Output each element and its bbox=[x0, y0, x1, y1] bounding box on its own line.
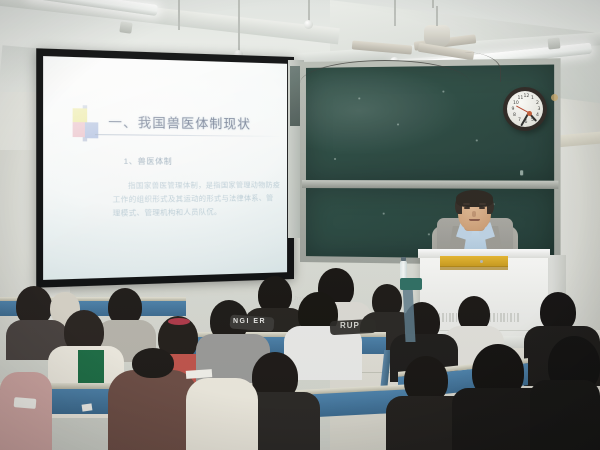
student-body-front-7 bbox=[530, 380, 600, 450]
clock-number-3: 3 bbox=[538, 107, 541, 112]
slide-subtitle: 1、兽医体制 bbox=[124, 155, 173, 167]
student-body-front-4 bbox=[186, 378, 258, 450]
clock-number-11: 11 bbox=[518, 96, 524, 101]
paper-on-desk-3 bbox=[82, 403, 93, 411]
stand-book bbox=[400, 278, 422, 290]
hanger-rod-4 bbox=[394, 0, 396, 26]
projection-screen: 一、我国兽医体制现状 1、兽医体制 指国家兽医管理体制，是指国家管理动物防疫工作… bbox=[36, 48, 294, 287]
clock-number-12: 12 bbox=[524, 94, 530, 99]
presentation-slide: 一、我国兽医体制现状 1、兽医体制 指国家兽医管理体制，是指国家管理动物防疫工作… bbox=[43, 56, 287, 280]
wall-hook bbox=[551, 94, 558, 101]
hanger-rod-2 bbox=[238, 0, 240, 52]
fan-rod-1 bbox=[436, 6, 438, 26]
tube-mount-1 bbox=[119, 21, 132, 34]
speaker-eye-right bbox=[479, 207, 485, 209]
paper-on-desk-2 bbox=[14, 397, 37, 409]
jacket-text-grey: NGI ER bbox=[233, 318, 266, 325]
slide-title: 一、我国兽医体制现状 bbox=[108, 111, 251, 133]
clock-center-pin bbox=[527, 111, 532, 116]
clock-number-7: 7 bbox=[518, 118, 521, 123]
slide-title-rule bbox=[95, 134, 282, 137]
hanger-rod-3 bbox=[308, 0, 310, 22]
slide-decoration-icon bbox=[73, 108, 102, 140]
student-body-front-5 bbox=[0, 372, 52, 450]
clock-number-1: 1 bbox=[531, 96, 534, 101]
podium-wood-shadow bbox=[440, 266, 508, 270]
speaker-hair bbox=[456, 190, 493, 207]
classroom-photo: 一、我国兽医体制现状 1、兽医体制 指国家兽医管理体制，是指国家管理动物防疫工作… bbox=[0, 0, 600, 450]
bottle-cap bbox=[401, 257, 406, 261]
jacket-text-white: RUP bbox=[340, 321, 360, 330]
podium-screw bbox=[480, 260, 483, 263]
student-hairband bbox=[168, 318, 190, 325]
speaker-mouth bbox=[469, 219, 480, 221]
wall-clock: 12 1 2 3 4 5 6 7 8 9 10 11 bbox=[503, 87, 547, 131]
hanger-rod-5 bbox=[432, 0, 434, 8]
hanger-ball-3 bbox=[304, 20, 313, 29]
speaker-nose bbox=[472, 211, 476, 217]
student-head-front-3 bbox=[132, 348, 174, 378]
student-body-front-3 bbox=[108, 370, 198, 450]
clock-number-2: 2 bbox=[536, 101, 539, 106]
clock-number-9: 9 bbox=[512, 107, 515, 112]
clock-number-8: 8 bbox=[513, 113, 516, 118]
speaker-brow-right bbox=[479, 203, 486, 205]
clock-number-4: 4 bbox=[536, 113, 539, 118]
clock-face: 12 1 2 3 4 5 6 7 8 9 10 11 bbox=[507, 91, 543, 127]
tube-mount-3 bbox=[547, 37, 560, 49]
slide-body-text: 指国家兽医管理体制，是指国家管理动物防疫工作的组织形式及其运动的形式与法律体系、… bbox=[113, 179, 280, 221]
speaker-eye-left bbox=[464, 207, 470, 209]
hanger-rod-1 bbox=[178, 0, 180, 30]
speaker-brow-left bbox=[463, 203, 470, 205]
